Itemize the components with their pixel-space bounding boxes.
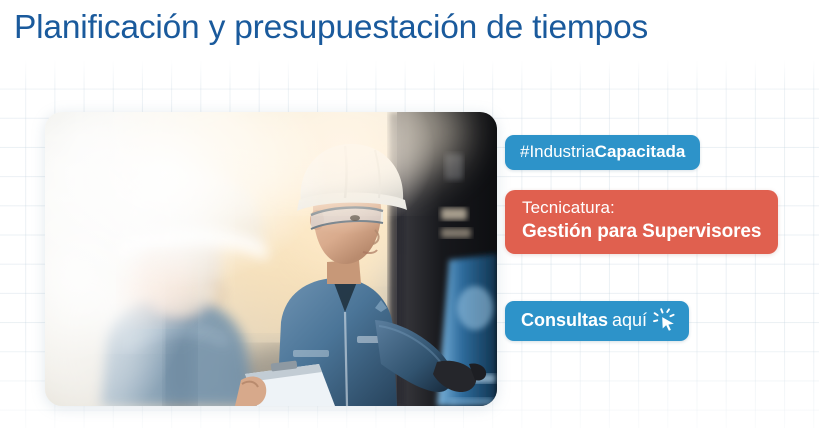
hashtag-bold-text: Capacitada — [595, 142, 686, 161]
page-title: Planificación y presupuestación de tiemp… — [14, 7, 648, 49]
click-cursor-icon — [653, 308, 679, 332]
photo-illustration — [45, 112, 497, 406]
industrial-workers-photo — [45, 112, 497, 406]
consultas-cta-button[interactable]: Consultas aquí — [505, 301, 689, 341]
program-badge-line1: Tecnicatura: — [522, 197, 761, 219]
program-badge: Tecnicatura: Gestión para Supervisores — [505, 190, 778, 254]
cta-bold-text: Consultas — [521, 309, 608, 331]
badge-stack: #IndustriaCapacitada Tecnicatura: Gestió… — [505, 135, 805, 341]
status-badge-hashtag: #IndustriaCapacitada — [505, 135, 700, 170]
program-badge-line2: Gestión para Supervisores — [522, 219, 761, 244]
cta-light-text: aquí — [612, 309, 647, 331]
hashtag-light-text: #Industria — [520, 142, 595, 161]
